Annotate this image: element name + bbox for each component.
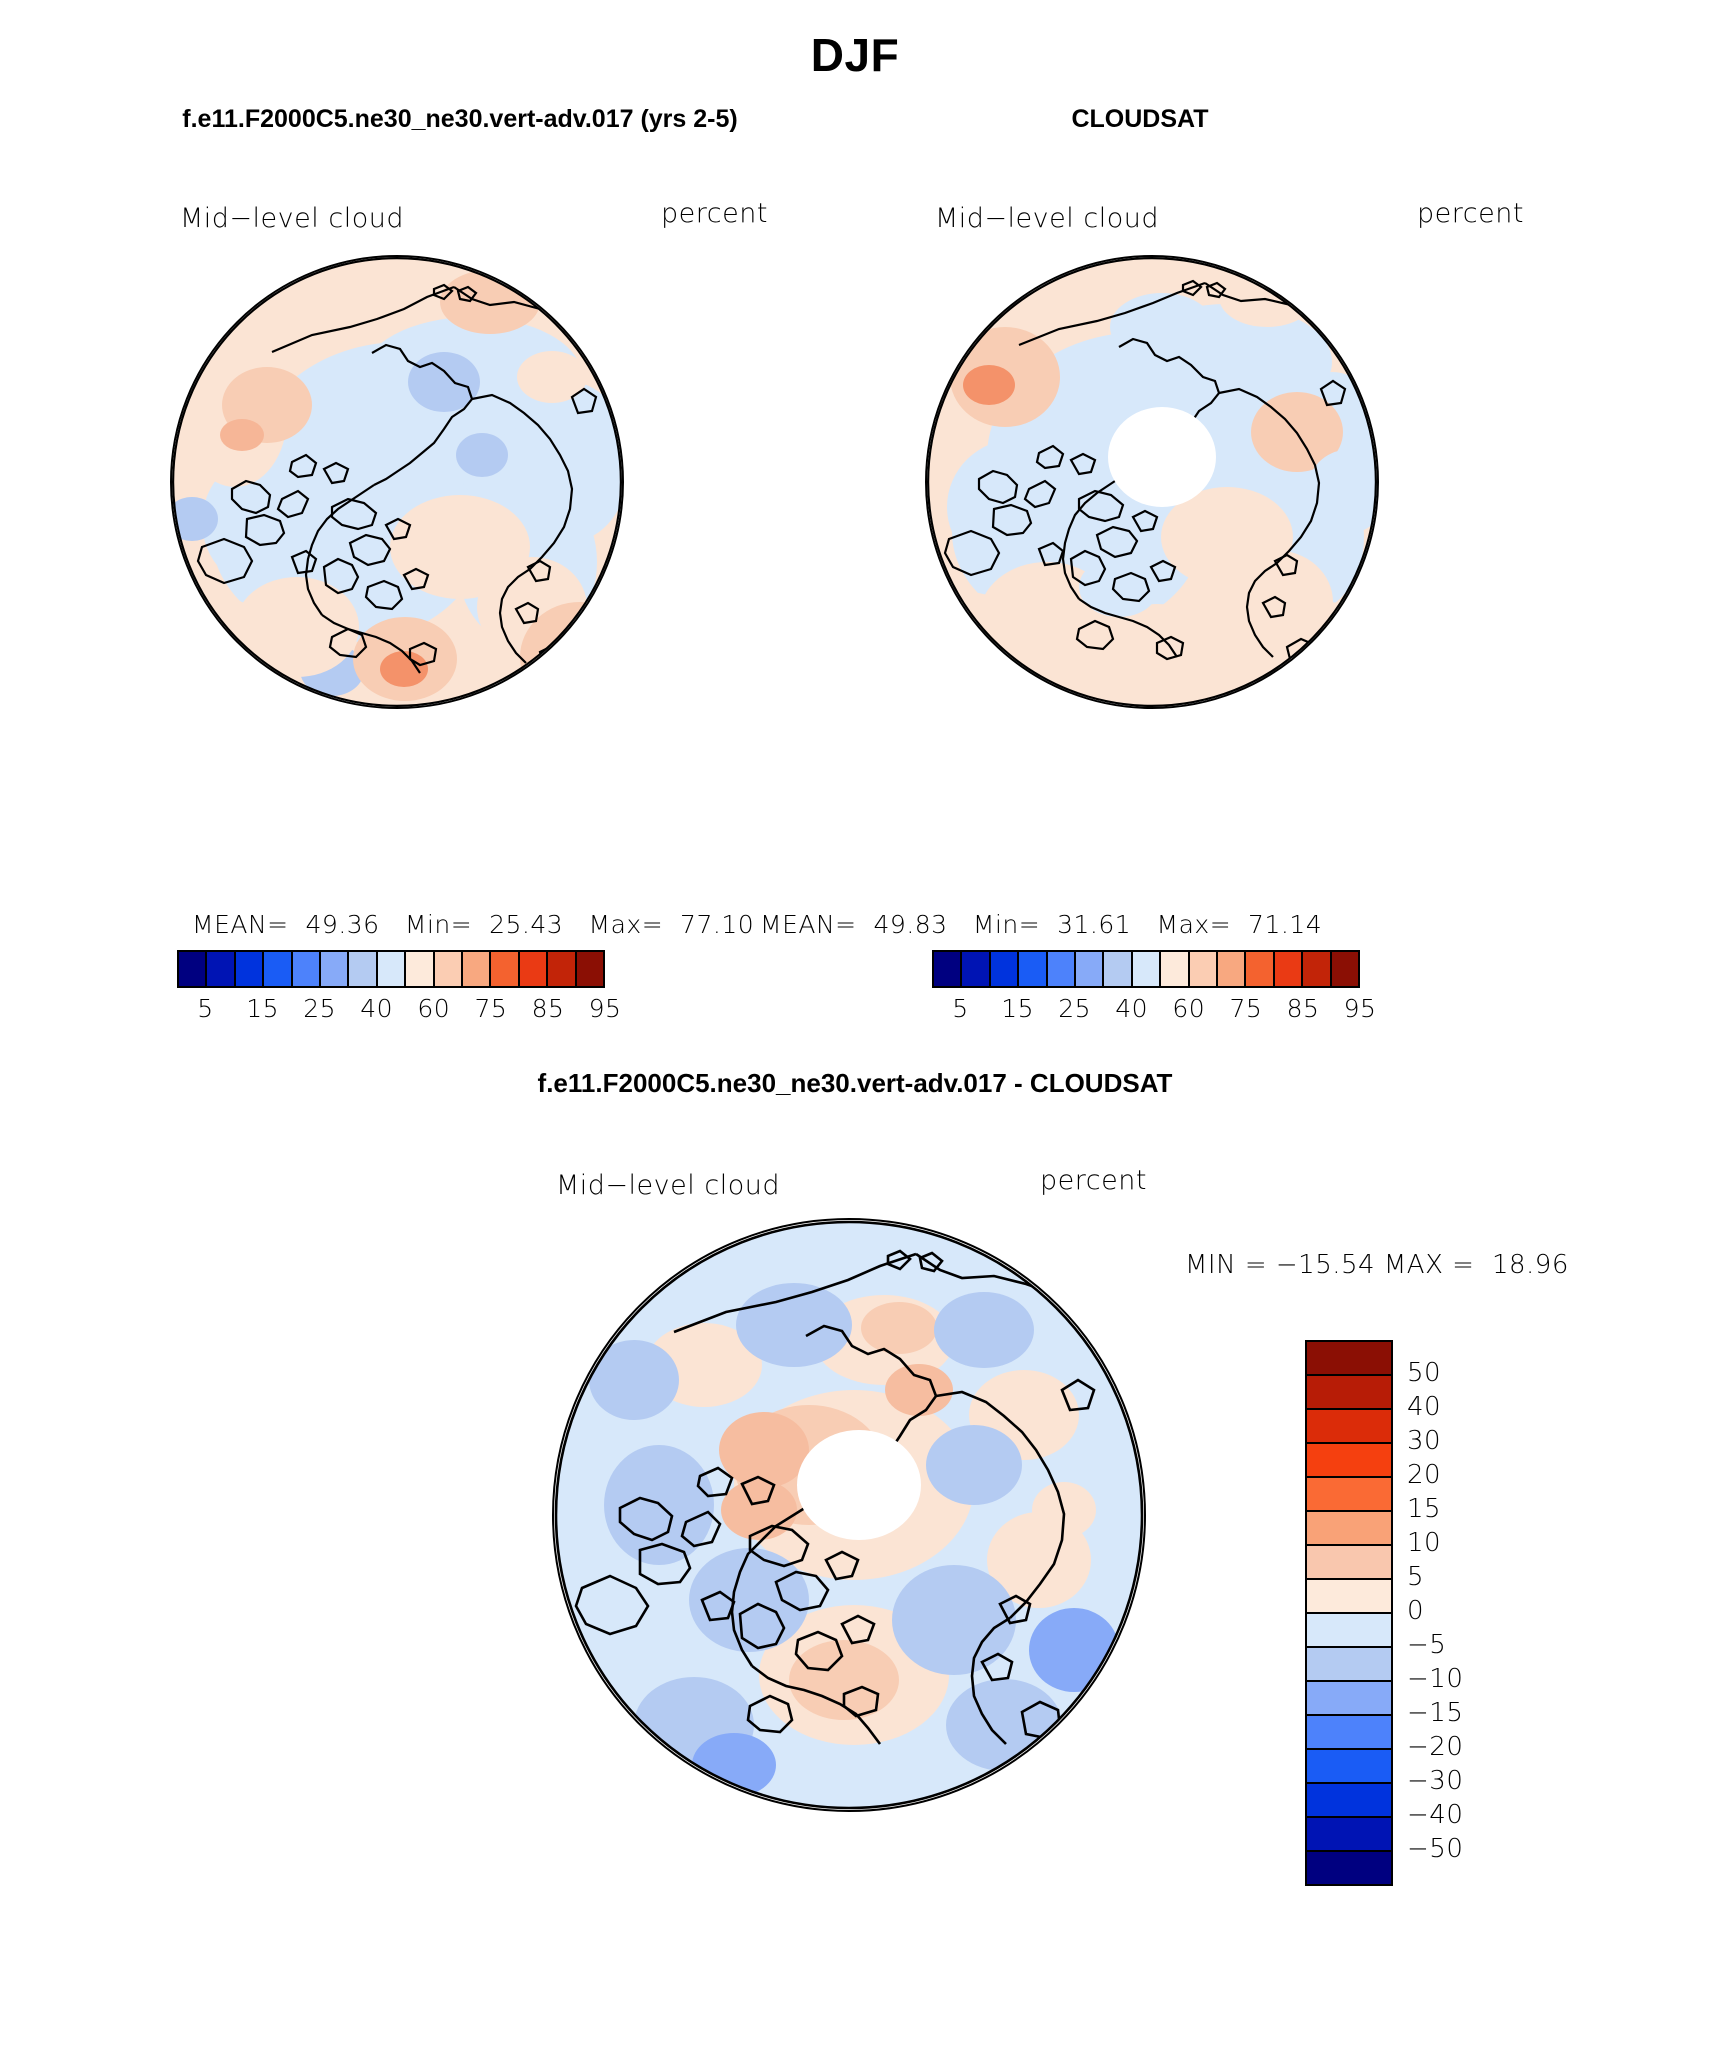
- colorbar-absolute-left-ticks: 5 15 25 40 60 75 85 95: [177, 988, 605, 1028]
- cbar-tick: 75: [1229, 994, 1262, 1023]
- cbar-tick: 85: [1287, 994, 1320, 1023]
- cbar-tick: −15: [1407, 1698, 1463, 1728]
- cbar-tick: 10: [1407, 1528, 1441, 1558]
- colorbar-difference-swatches: [1305, 1340, 1393, 1886]
- cbar-tick: 60: [1172, 994, 1205, 1023]
- colorbar-absolute-left-swatches: [177, 950, 605, 988]
- map-right-svg: [927, 257, 1377, 707]
- map-difference-svg: [554, 1220, 1144, 1810]
- cbar-tick: 75: [474, 994, 507, 1023]
- cbar-tick: 40: [360, 994, 393, 1023]
- diff-unit-label: percent: [1040, 1165, 1147, 1196]
- cbar-tick: 5: [197, 994, 213, 1023]
- map-right-observation: [925, 255, 1379, 709]
- colorbar-absolute-right: 5 15 25 40 60 75 85 95: [932, 950, 1360, 1028]
- cbar-tick: 5: [952, 994, 968, 1023]
- cbar-tick: 60: [417, 994, 450, 1023]
- right-variable-label: Mid−level cloud: [935, 203, 1159, 234]
- cbar-tick: 15: [1407, 1494, 1441, 1524]
- cbar-tick: 25: [303, 994, 336, 1023]
- colorbar-absolute-right-swatches: [932, 950, 1360, 988]
- cbar-tick: 85: [532, 994, 565, 1023]
- right-panel-stats: MEAN= 49.83 Min= 31.61 Max= 71.14: [760, 910, 1322, 939]
- left-panel-title: f.e11.F2000C5.ne30_ne30.vert-adv.017 (yr…: [40, 105, 880, 134]
- map-left-model: [170, 255, 624, 709]
- cbar-tick: 50: [1407, 1358, 1441, 1388]
- cbar-tick: 95: [589, 994, 622, 1023]
- cbar-tick: 0: [1407, 1596, 1424, 1626]
- cbar-tick: 5: [1407, 1562, 1424, 1592]
- colorbar-absolute-right-ticks: 5 15 25 40 60 75 85 95: [932, 988, 1360, 1028]
- cbar-tick: −40: [1407, 1800, 1463, 1830]
- diff-panel-title: f.e11.F2000C5.ne30_ne30.vert-adv.017 - C…: [0, 1068, 1710, 1099]
- cbar-tick: −5: [1407, 1630, 1446, 1660]
- map-difference: [552, 1218, 1146, 1812]
- map-left-svg: [172, 257, 622, 707]
- cbar-tick: 20: [1407, 1460, 1441, 1490]
- cbar-tick: 30: [1407, 1426, 1441, 1456]
- right-panel-title: CLOUDSAT: [850, 105, 1430, 134]
- right-unit-label: percent: [1417, 198, 1524, 229]
- cbar-tick: −10: [1407, 1664, 1463, 1694]
- left-variable-label: Mid−level cloud: [180, 203, 404, 234]
- cbar-tick: 40: [1407, 1392, 1441, 1422]
- cbar-tick: 95: [1344, 994, 1377, 1023]
- cbar-tick: −30: [1407, 1766, 1463, 1796]
- diff-minmax-label: MIN = −15.54 MAX = 18.96: [1185, 1250, 1569, 1280]
- colorbar-difference-ticks: 50 40 30 20 15 10 5 0 −5 −10 −15 −20 −30…: [1407, 1340, 1527, 1860]
- colorbar-difference: 50 40 30 20 15 10 5 0 −5 −10 −15 −20 −30…: [1305, 1340, 1395, 1860]
- cbar-tick: −20: [1407, 1732, 1463, 1762]
- diff-variable-label: Mid−level cloud: [556, 1170, 780, 1201]
- colorbar-absolute-left: 5 15 25 40 60 75 85 95: [177, 950, 605, 1028]
- cbar-tick: −50: [1407, 1834, 1463, 1864]
- cbar-tick: 25: [1058, 994, 1091, 1023]
- left-panel-stats: MEAN= 49.36 Min= 25.43 Max= 77.10: [192, 910, 754, 939]
- figure-season-title: DJF: [0, 28, 1710, 82]
- cbar-tick: 40: [1115, 994, 1148, 1023]
- left-unit-label: percent: [661, 198, 768, 229]
- cbar-tick: 15: [246, 994, 279, 1023]
- cbar-tick: 15: [1001, 994, 1034, 1023]
